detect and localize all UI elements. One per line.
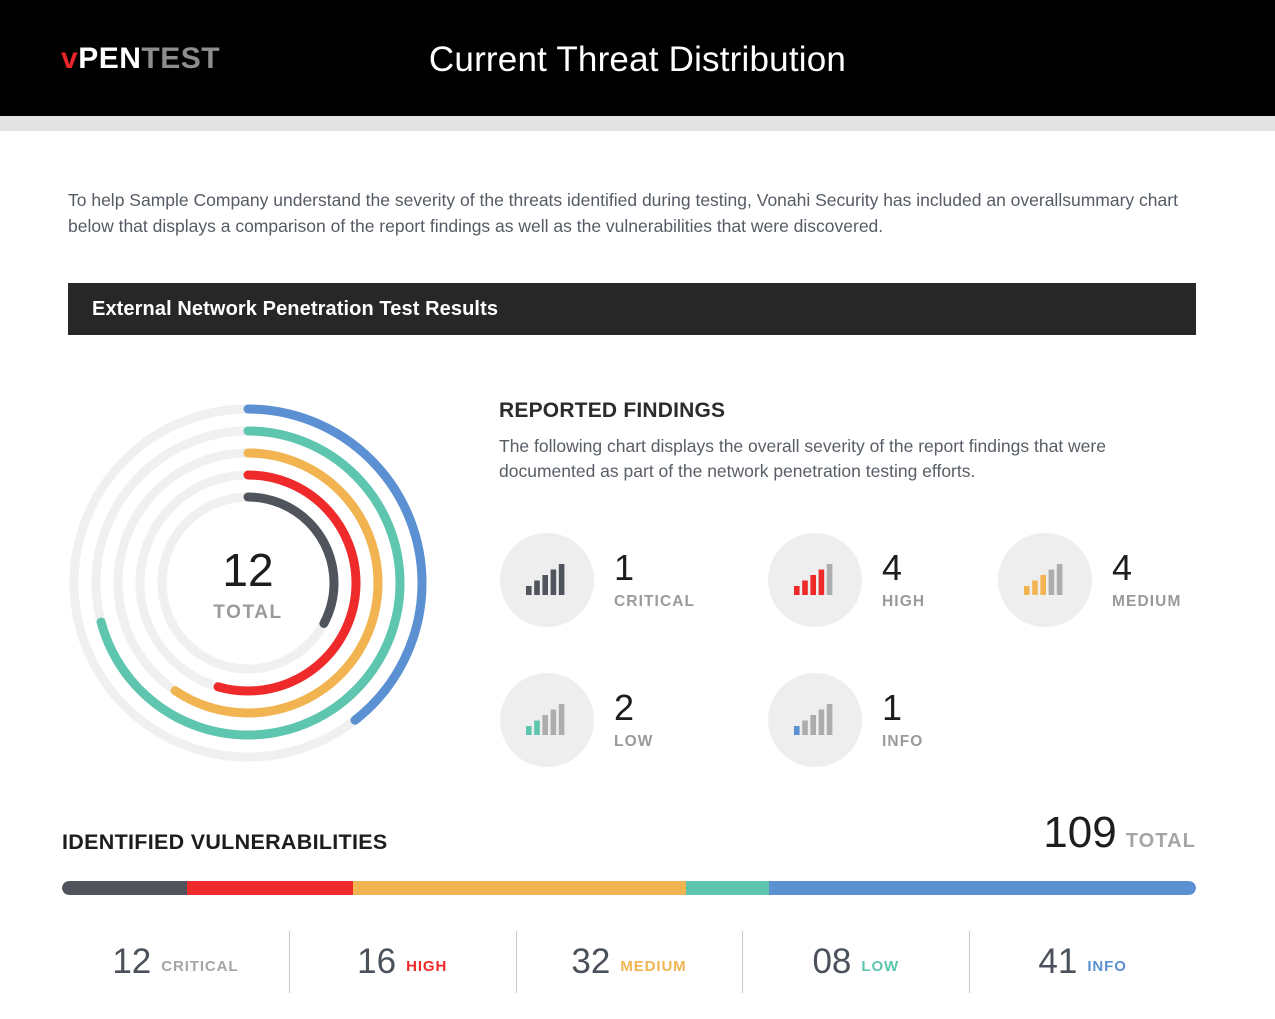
legend-count-info: 41: [1038, 944, 1077, 979]
signal-bar-3: [810, 575, 816, 595]
finding-card-info[interactable]: 1INFO: [768, 673, 923, 767]
signal-bar-3: [1040, 575, 1046, 595]
stacked-bar-segment-info: [769, 881, 1196, 895]
identified-vulnerabilities-total-number: 109: [1043, 811, 1116, 855]
stacked-bar-segment-low: [686, 881, 769, 895]
legend-cell-medium[interactable]: 32MEDIUM: [516, 925, 743, 998]
signal-bar-2: [534, 721, 540, 736]
signal-bars-icon: [526, 703, 568, 737]
section-banner: External Network Penetration Test Result…: [68, 283, 1196, 335]
signal-bar-1: [1024, 586, 1030, 595]
reported-findings-description: The following chart displays the overall…: [499, 434, 1199, 484]
stacked-bar-segment-medium: [353, 881, 686, 895]
signal-bar-4: [819, 570, 825, 596]
legend-cell-low[interactable]: 08LOW: [742, 925, 969, 998]
vulnerability-legend-row: 12CRITICAL16HIGH32MEDIUM08LOW41INFO: [62, 925, 1196, 998]
signal-bar-2: [802, 581, 808, 596]
finding-icon-circle-critical: [500, 533, 594, 627]
finding-text-low: 2LOW: [614, 690, 653, 751]
stacked-bar-segment-high: [187, 881, 353, 895]
signal-bar-3: [542, 715, 548, 735]
identified-vulnerabilities-total-label: TOTAL: [1126, 830, 1196, 853]
finding-label-medium: MEDIUM: [1112, 593, 1181, 611]
finding-card-high[interactable]: 4HIGH: [768, 533, 925, 627]
finding-icon-circle-high: [768, 533, 862, 627]
vulnerability-stacked-bar: [62, 881, 1196, 895]
signal-bar-5: [827, 564, 833, 595]
signal-bar-1: [526, 586, 532, 595]
finding-text-info: 1INFO: [882, 690, 923, 751]
finding-card-low[interactable]: 2LOW: [500, 673, 653, 767]
page-title: Current Threat Distribution: [0, 40, 1275, 80]
finding-count-high: 4: [882, 550, 925, 586]
signal-bar-5: [559, 564, 565, 595]
finding-text-medium: 4MEDIUM: [1112, 550, 1181, 611]
finding-icon-circle-low: [500, 673, 594, 767]
finding-count-info: 1: [882, 690, 923, 726]
signal-bar-5: [559, 704, 565, 735]
legend-count-critical: 12: [112, 944, 151, 979]
finding-text-critical: 1CRITICAL: [614, 550, 695, 611]
signal-bar-2: [534, 581, 540, 596]
signal-bar-4: [551, 570, 557, 596]
signal-bars-icon: [1024, 563, 1066, 597]
finding-count-medium: 4: [1112, 550, 1181, 586]
finding-label-low: LOW: [614, 733, 653, 751]
finding-icon-circle-medium: [998, 533, 1092, 627]
legend-cell-critical[interactable]: 12CRITICAL: [62, 925, 289, 998]
finding-label-critical: CRITICAL: [614, 593, 695, 611]
signal-bar-1: [794, 586, 800, 595]
legend-cell-info[interactable]: 41INFO: [969, 925, 1196, 998]
legend-label-info: INFO: [1087, 958, 1126, 975]
finding-icon-circle-info: [768, 673, 862, 767]
signal-bars-icon: [794, 563, 836, 597]
signal-bars-icon: [794, 703, 836, 737]
signal-bar-2: [1032, 581, 1038, 596]
reported-findings-heading: REPORTED FINDINGS: [499, 399, 725, 423]
signal-bar-4: [551, 710, 557, 736]
finding-count-critical: 1: [614, 550, 695, 586]
radial-center-total: 12: [62, 547, 434, 593]
finding-count-low: 2: [614, 690, 653, 726]
signal-bar-5: [1057, 564, 1063, 595]
signal-bar-1: [794, 726, 800, 735]
signal-bar-4: [819, 710, 825, 736]
legend-count-high: 16: [357, 944, 396, 979]
legend-cell-high[interactable]: 16HIGH: [289, 925, 516, 998]
intro-paragraph: To help Sample Company understand the se…: [68, 188, 1196, 239]
finding-label-high: HIGH: [882, 593, 925, 611]
identified-vulnerabilities-heading: IDENTIFIED VULNERABILITIES: [62, 830, 388, 855]
legend-label-low: LOW: [861, 958, 899, 975]
signal-bar-1: [526, 726, 532, 735]
identified-vulnerabilities-total: 109 TOTAL: [1043, 811, 1196, 855]
radial-severity-chart: 12 TOTAL: [62, 397, 434, 769]
legend-label-critical: CRITICAL: [161, 958, 238, 975]
legend-label-high: HIGH: [406, 958, 447, 975]
signal-bar-3: [542, 575, 548, 595]
stacked-bar-segment-critical: [62, 881, 187, 895]
signal-bar-2: [802, 721, 808, 736]
signal-bars-icon: [526, 563, 568, 597]
radial-center-label: TOTAL: [62, 602, 434, 624]
signal-bar-4: [1049, 570, 1055, 596]
finding-card-critical[interactable]: 1CRITICAL: [500, 533, 695, 627]
page-header: vPENTEST Current Threat Distribution: [0, 0, 1275, 116]
legend-count-low: 08: [812, 944, 851, 979]
legend-label-medium: MEDIUM: [620, 958, 686, 975]
signal-bar-3: [810, 715, 816, 735]
finding-text-high: 4HIGH: [882, 550, 925, 611]
signal-bar-5: [827, 704, 833, 735]
legend-count-medium: 32: [571, 944, 610, 979]
header-divider: [0, 116, 1275, 131]
finding-card-medium[interactable]: 4MEDIUM: [998, 533, 1181, 627]
finding-label-info: INFO: [882, 733, 923, 751]
section-banner-title: External Network Penetration Test Result…: [68, 298, 498, 321]
